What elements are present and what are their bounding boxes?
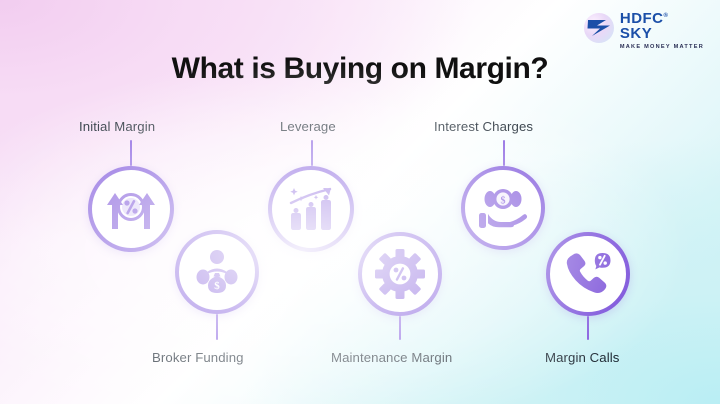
icon-circle-interest-charges[interactable]: $ bbox=[461, 166, 545, 250]
icon-circle-maintenance-margin[interactable] bbox=[358, 232, 442, 316]
connector-leverage bbox=[311, 140, 313, 166]
label-broker-funding: Broker Funding bbox=[152, 350, 244, 365]
label-maintenance-margin: Maintenance Margin bbox=[331, 350, 452, 365]
registered-mark: ® bbox=[664, 13, 669, 19]
connector-initial-margin bbox=[130, 140, 132, 166]
svg-text:$: $ bbox=[214, 280, 220, 292]
logo-name-line2: SKY bbox=[620, 27, 704, 42]
label-margin-calls: Margin Calls bbox=[545, 350, 620, 365]
connector-maintenance-margin bbox=[399, 316, 401, 340]
person-money-bag-icon: $ bbox=[193, 248, 241, 296]
label-interest-charges: Interest Charges bbox=[434, 119, 533, 134]
label-initial-margin: Initial Margin bbox=[79, 119, 155, 134]
svg-text:$: $ bbox=[501, 195, 506, 206]
icon-circle-leverage[interactable] bbox=[268, 166, 354, 252]
hand-holding-coins-icon: $ bbox=[477, 185, 529, 231]
connector-interest-charges bbox=[503, 140, 505, 166]
growth-bar-chart-icon bbox=[285, 185, 337, 233]
hdfc-arrow-icon bbox=[584, 13, 614, 43]
infographic-canvas: HDFC® SKY MAKE MONEY MATTER What is Buyi… bbox=[0, 0, 720, 404]
connector-margin-calls bbox=[587, 316, 589, 340]
logo-tagline: MAKE MONEY MATTER bbox=[620, 45, 704, 51]
percent-coin-arrows-icon bbox=[103, 187, 159, 231]
icon-circle-margin-calls[interactable] bbox=[546, 232, 630, 316]
icon-circle-broker-funding[interactable]: $ bbox=[175, 230, 259, 314]
page-title: What is Buying on Margin? bbox=[0, 52, 720, 86]
icon-circle-initial-margin[interactable] bbox=[88, 166, 174, 252]
connector-broker-funding bbox=[216, 314, 218, 340]
hdfc-sky-logo: HDFC® SKY MAKE MONEY MATTER bbox=[584, 12, 704, 51]
phone-percent-icon bbox=[563, 250, 613, 298]
gear-percent-icon bbox=[375, 249, 425, 299]
label-leverage: Leverage bbox=[280, 119, 336, 134]
